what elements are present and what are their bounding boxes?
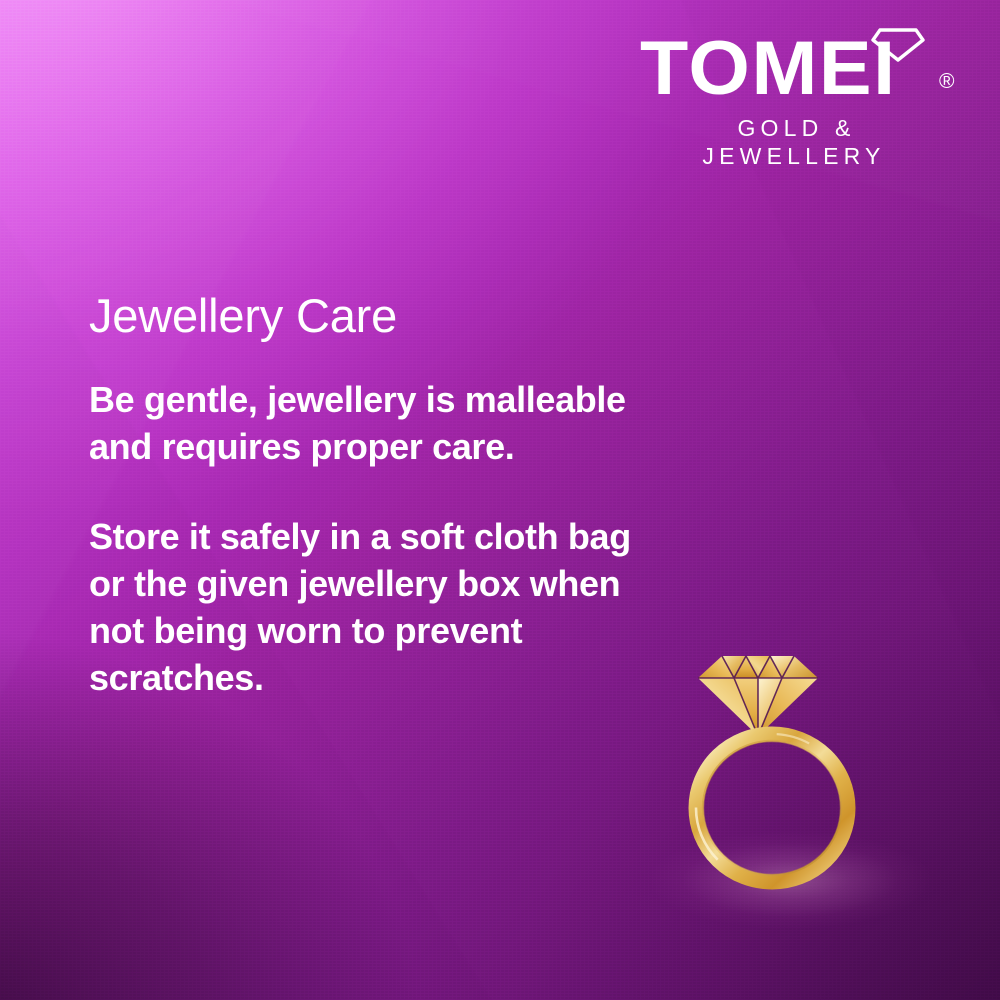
brand-logo: TOMEI ® GOLD & JEWELLERY [640, 26, 970, 170]
poster-canvas: TOMEI ® GOLD & JEWELLERY Jewellery Care … [0, 0, 1000, 1000]
gem-icon [698, 656, 818, 736]
care-paragraph-1: Be gentle, jewellery is malleable and re… [89, 376, 669, 470]
care-paragraph-2: Store it safely in a soft cloth bag or t… [89, 513, 669, 701]
registered-trademark-icon: ® [939, 71, 954, 92]
diamond-ring-illustration [688, 636, 888, 916]
diamond-outline-icon [871, 28, 925, 62]
page-title: Jewellery Care [89, 288, 669, 344]
ring-icon [696, 734, 848, 882]
logo-wordmark-row: TOMEI ® [640, 26, 970, 112]
copy-block: Jewellery Care Be gentle, jewellery is m… [89, 288, 669, 701]
logo-subtitle: GOLD & JEWELLERY [640, 114, 948, 170]
